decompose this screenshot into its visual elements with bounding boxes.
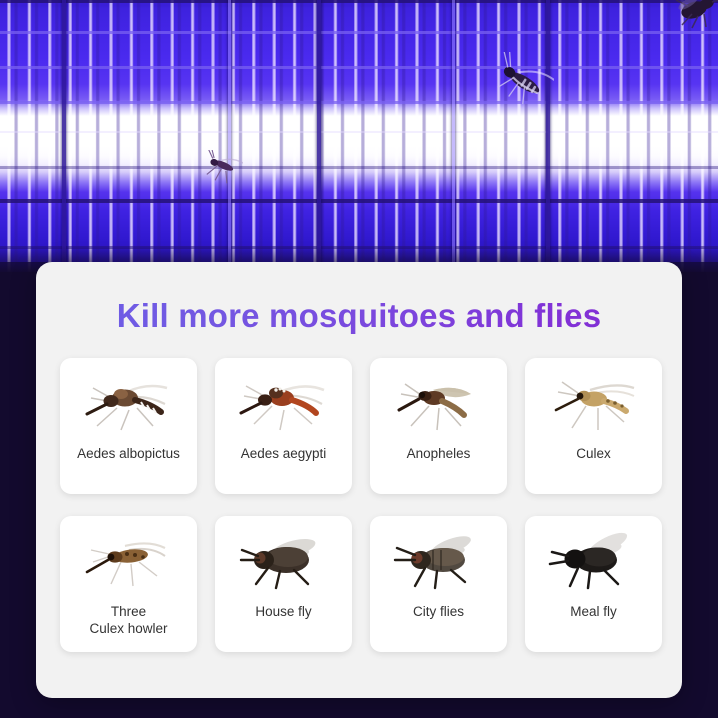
city-fly-icon bbox=[383, 524, 495, 602]
house-fly-icon bbox=[228, 524, 340, 602]
grid-rail bbox=[0, 101, 718, 104]
species-card-label: Meal fly bbox=[566, 604, 621, 620]
species-panel: Kill more mosquitoes and flies bbox=[36, 262, 682, 698]
species-card-aedes-aegypti[interactable]: Aedes aegypti bbox=[215, 358, 352, 494]
mosquito-three-culex-howler-icon bbox=[73, 524, 185, 602]
dead-fly-top-right-icon bbox=[672, 0, 718, 40]
grid-post bbox=[317, 0, 321, 272]
mosquito-anopheles-icon bbox=[383, 366, 495, 444]
grid-post bbox=[546, 0, 550, 272]
species-card-label: Aedes aegypti bbox=[237, 446, 331, 462]
uv-grid-hero-image bbox=[0, 0, 718, 272]
grid-rail bbox=[0, 66, 718, 69]
grid-rail bbox=[0, 0, 718, 3]
mosquito-aedes-albopictus-icon bbox=[73, 366, 185, 444]
species-card-label: Aedes albopictus bbox=[73, 446, 184, 462]
grid-rail bbox=[0, 166, 718, 169]
grid-post bbox=[62, 0, 66, 272]
page-title: Kill more mosquitoes and flies bbox=[36, 262, 682, 334]
grid-rail bbox=[0, 199, 718, 203]
species-card-label: Anopheles bbox=[403, 446, 475, 462]
mosquito-culex-icon bbox=[538, 366, 650, 444]
grid-rail bbox=[0, 131, 718, 133]
grid-rail bbox=[0, 31, 718, 34]
species-card-anopheles[interactable]: Anopheles bbox=[370, 358, 507, 494]
dead-mosquito-on-grid-icon bbox=[492, 52, 554, 114]
dead-mosquito-on-light-band-icon bbox=[199, 150, 243, 194]
meal-fly-icon bbox=[538, 524, 650, 602]
species-card-meal-fly[interactable]: Meal fly bbox=[525, 516, 662, 652]
species-card-label: Three Culex howler bbox=[85, 604, 171, 637]
species-card-house-fly[interactable]: House fly bbox=[215, 516, 352, 652]
mosquito-aedes-aegypti-icon bbox=[228, 366, 340, 444]
species-card-culex[interactable]: Culex bbox=[525, 358, 662, 494]
uv-grid-wires bbox=[0, 0, 718, 272]
species-card-label: Culex bbox=[572, 446, 615, 462]
grid-post bbox=[228, 0, 231, 272]
species-card-label: House fly bbox=[251, 604, 315, 620]
species-card-label: City flies bbox=[409, 604, 468, 620]
species-card-aedes-albopictus[interactable]: Aedes albopictus bbox=[60, 358, 197, 494]
species-card-three-culex-howler[interactable]: Three Culex howler bbox=[60, 516, 197, 652]
grid-post bbox=[452, 0, 455, 272]
species-card-city-flies[interactable]: City flies bbox=[370, 516, 507, 652]
page-root: Kill more mosquitoes and flies bbox=[0, 0, 718, 718]
species-card-grid: Aedes albopictus bbox=[36, 334, 682, 652]
